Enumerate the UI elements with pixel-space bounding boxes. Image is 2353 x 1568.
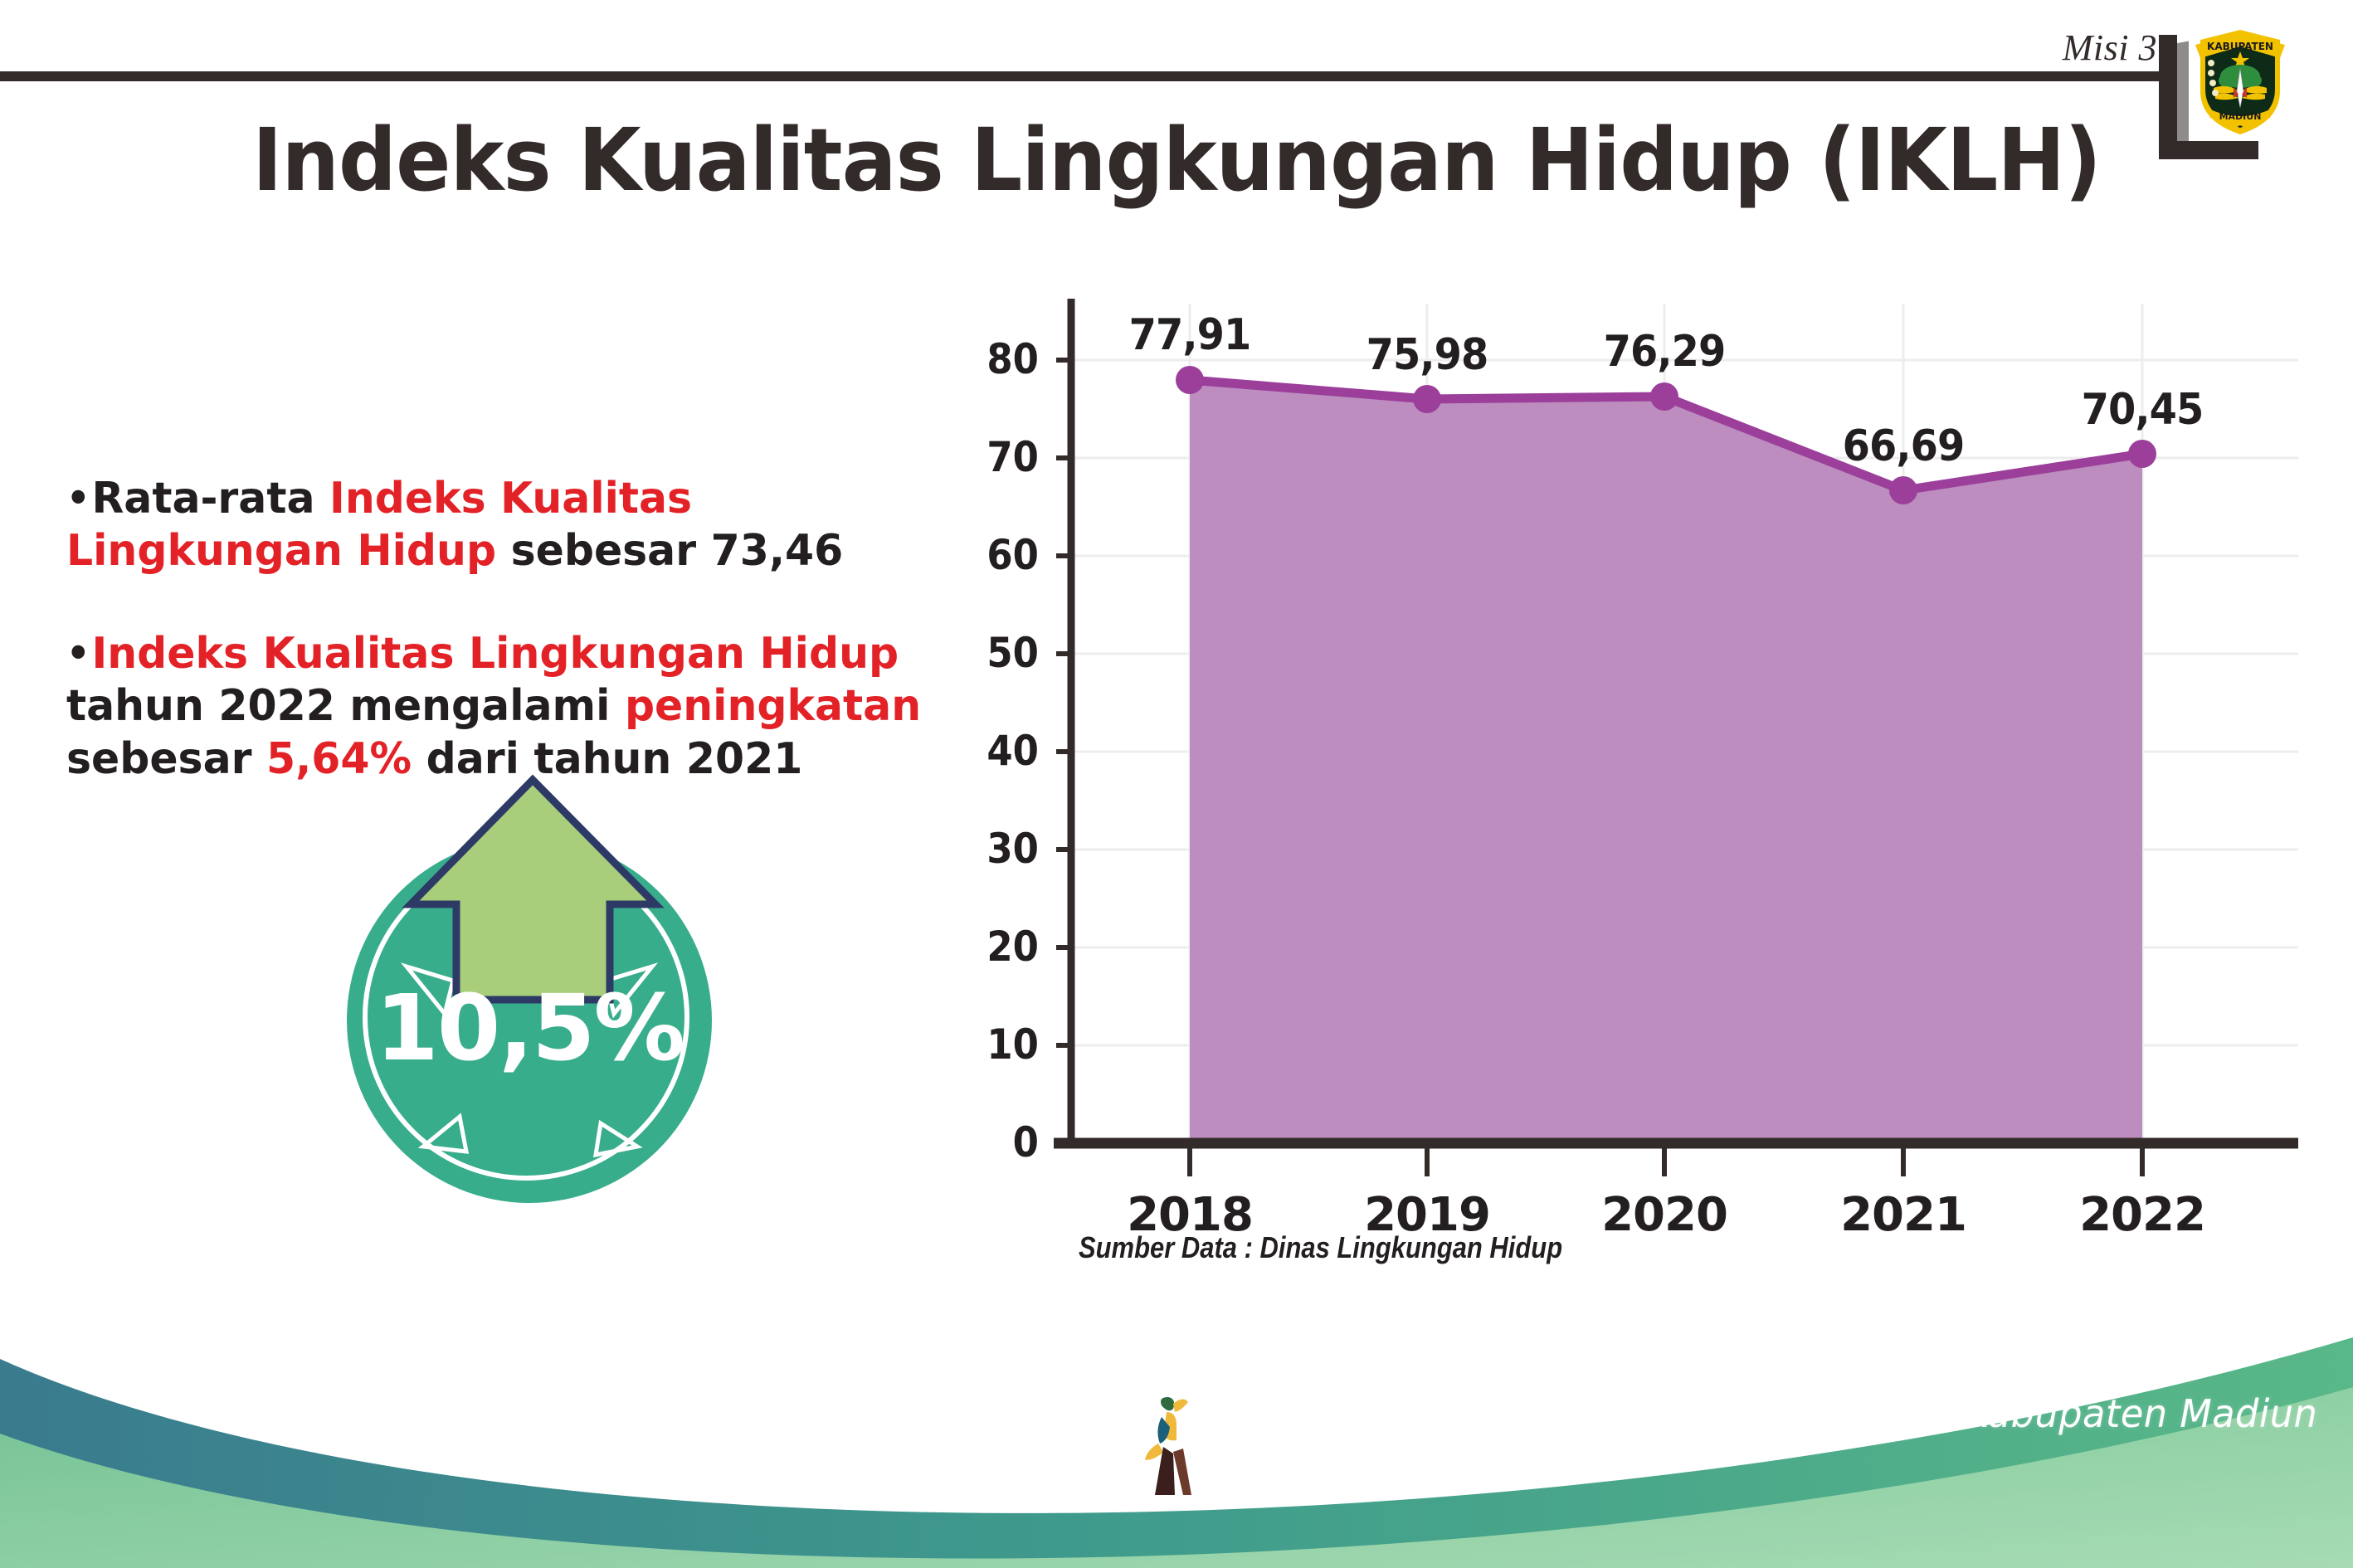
- bullet-0-part1: Rata-rata: [91, 474, 329, 523]
- y-tick-label-30: 30: [957, 825, 1039, 873]
- svg-text:KABUPATEN: KABUPATEN: [2207, 41, 2273, 52]
- header-divider-rule: [0, 71, 2169, 81]
- bullet-marker: •: [66, 631, 90, 675]
- y-tick-label-20: 20: [957, 923, 1039, 971]
- x-tick-label-2022: 2022: [2051, 1188, 2234, 1242]
- y-tick-label-10: 10: [957, 1020, 1039, 1069]
- footer-band: Media Infografis Data Statistik Sektoral…: [0, 1294, 2353, 1568]
- badge-value: 10,5%: [347, 975, 712, 1081]
- x-tick-label-2020: 2020: [1573, 1188, 1756, 1242]
- data-label-2018: 77,91: [1099, 310, 1282, 360]
- chart-source-note: Sumber Data : Dinas Lingkungan Hidup: [1079, 1230, 1562, 1265]
- data-label-2020: 76,29: [1573, 327, 1756, 377]
- y-tick-label-50: 50: [957, 629, 1039, 677]
- x-tick-label-2021: 2021: [1812, 1188, 1995, 1242]
- data-label-2019: 75,98: [1336, 330, 1519, 380]
- y-tick-label-60: 60: [957, 531, 1039, 579]
- statistik-figure-logo-icon: [1137, 1392, 1211, 1508]
- y-tick-label-40: 40: [957, 727, 1039, 775]
- y-tick-label-80: 80: [957, 335, 1039, 383]
- bullet-1-part2: tahun 2022 mengalami: [66, 681, 625, 731]
- increase-badge: 10,5%: [328, 751, 743, 1207]
- bullet-1-part4: sebesar: [66, 734, 266, 784]
- bullet-1-highlight-1: Indeks Kualitas Lingkungan Hidup: [91, 629, 899, 679]
- y-tick-label-0: 0: [957, 1118, 1039, 1166]
- data-label-2021: 66,69: [1812, 421, 1995, 471]
- page-title: Indeks Kualitas Lingkungan Hidup (IKLH): [71, 110, 2282, 211]
- area-fill: [1190, 380, 2142, 1143]
- footer-text: Media Infografis Data Statistik Sektoral…: [1211, 1391, 2319, 1481]
- bullet-0-part3: sebesar 73,46: [496, 526, 843, 576]
- y-tick-label-70: 70: [957, 433, 1039, 481]
- bullet-marker: •: [66, 475, 90, 520]
- data-label-2022: 70,45: [2051, 385, 2234, 435]
- bullet-item-average: •Rata-rata Indeks Kualitas Lingkungan Hi…: [66, 473, 943, 578]
- iklh-area-chart: 80 70 60 50 40 30 20 10 0 2018 2019 2020…: [971, 274, 2315, 1203]
- misi-label: Misi 3: [2063, 27, 2157, 69]
- bullet-1-highlight-2: peningkatan: [625, 681, 921, 731]
